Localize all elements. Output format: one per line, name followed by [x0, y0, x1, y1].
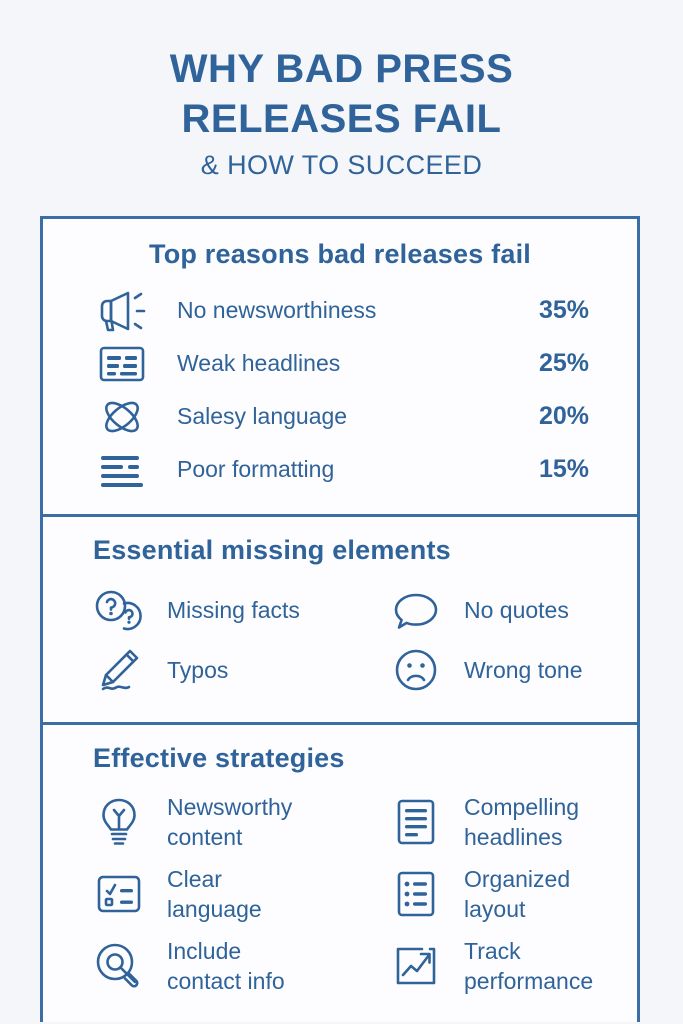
page-title-line1: WHY BAD PRESS [0, 44, 683, 94]
list-item: Newsworthy content [43, 786, 340, 858]
section-title-effective-strategies: Effective strategies [43, 743, 637, 774]
reason-label: Poor formatting [153, 456, 513, 483]
list-item: Missing facts [43, 580, 340, 640]
list-item-label: Organized layout [444, 864, 570, 924]
page-subtitle: & HOW TO SUCCEED [0, 150, 683, 181]
list-item-label: Missing facts [147, 595, 300, 625]
list-item-label: Newsworthy content [147, 792, 292, 852]
list-item: Typos [43, 640, 340, 700]
speech-bubble-icon [388, 589, 444, 631]
list-item-label: Wrong tone [444, 655, 582, 685]
list-item: Organized layout [340, 858, 637, 930]
text-lines-icon [91, 453, 153, 487]
page-header: WHY BAD PRESS RELEASES FAIL & HOW TO SUC… [0, 0, 683, 181]
missing-elements-grid: Missing facts No quotes [43, 580, 637, 700]
content-frame: Top reasons bad releases fail No newswor… [40, 216, 640, 1022]
list-item: Wrong tone [340, 640, 637, 700]
list-item-label: Typos [147, 655, 228, 685]
crossed-loops-icon [91, 395, 153, 439]
infographic-page: WHY BAD PRESS RELEASES FAIL & HOW TO SUC… [0, 0, 683, 1024]
reason-row: Weak headlines 25% [43, 337, 637, 390]
list-item: Track performance [340, 930, 637, 1002]
reason-percentage: 35% [513, 296, 589, 325]
reason-percentage: 20% [513, 402, 589, 431]
magnifier-icon [91, 941, 147, 991]
list-item: Compelling headlines [340, 786, 637, 858]
section-missing-elements: Essential missing elements Missing [43, 514, 637, 722]
list-item: No quotes [340, 580, 637, 640]
reason-row: Poor formatting 15% [43, 443, 637, 496]
bullet-list-icon [388, 869, 444, 919]
pen-icon [91, 647, 147, 693]
strategies-grid: Newsworthy content Compelling headlines [43, 786, 637, 1002]
page-title-line2: RELEASES FAIL [0, 94, 683, 144]
section-top-reasons: Top reasons bad releases fail No newswor… [43, 219, 637, 514]
lightbulb-icon [91, 796, 147, 848]
list-card-icon [91, 872, 147, 916]
reason-percentage: 25% [513, 349, 589, 378]
reason-percentage: 15% [513, 455, 589, 484]
list-item: Clear language [43, 858, 340, 930]
list-item: Include contact info [43, 930, 340, 1002]
megaphone-icon [91, 290, 153, 332]
section-effective-strategies: Effective strategies Newsworthy content [43, 722, 637, 1022]
reason-row: Salesy language 20% [43, 390, 637, 443]
reason-label: Weak headlines [153, 350, 513, 377]
reason-label: Salesy language [153, 403, 513, 430]
list-item-label: No quotes [444, 595, 569, 625]
list-item-label: Compelling headlines [444, 792, 579, 852]
reason-row: No newsworthiness 35% [43, 284, 637, 337]
list-item-label: Clear language [147, 864, 262, 924]
section-title-missing-elements: Essential missing elements [43, 535, 637, 566]
question-marks-icon [91, 588, 147, 632]
chart-arrow-icon [388, 943, 444, 989]
reason-label: No newsworthiness [153, 297, 513, 324]
list-item-label: Track performance [444, 936, 593, 996]
list-item-label: Include contact info [147, 936, 285, 996]
document-lines-icon [388, 797, 444, 847]
sad-face-icon [388, 647, 444, 693]
headline-card-icon [91, 344, 153, 384]
section-title-top-reasons: Top reasons bad releases fail [43, 239, 637, 270]
